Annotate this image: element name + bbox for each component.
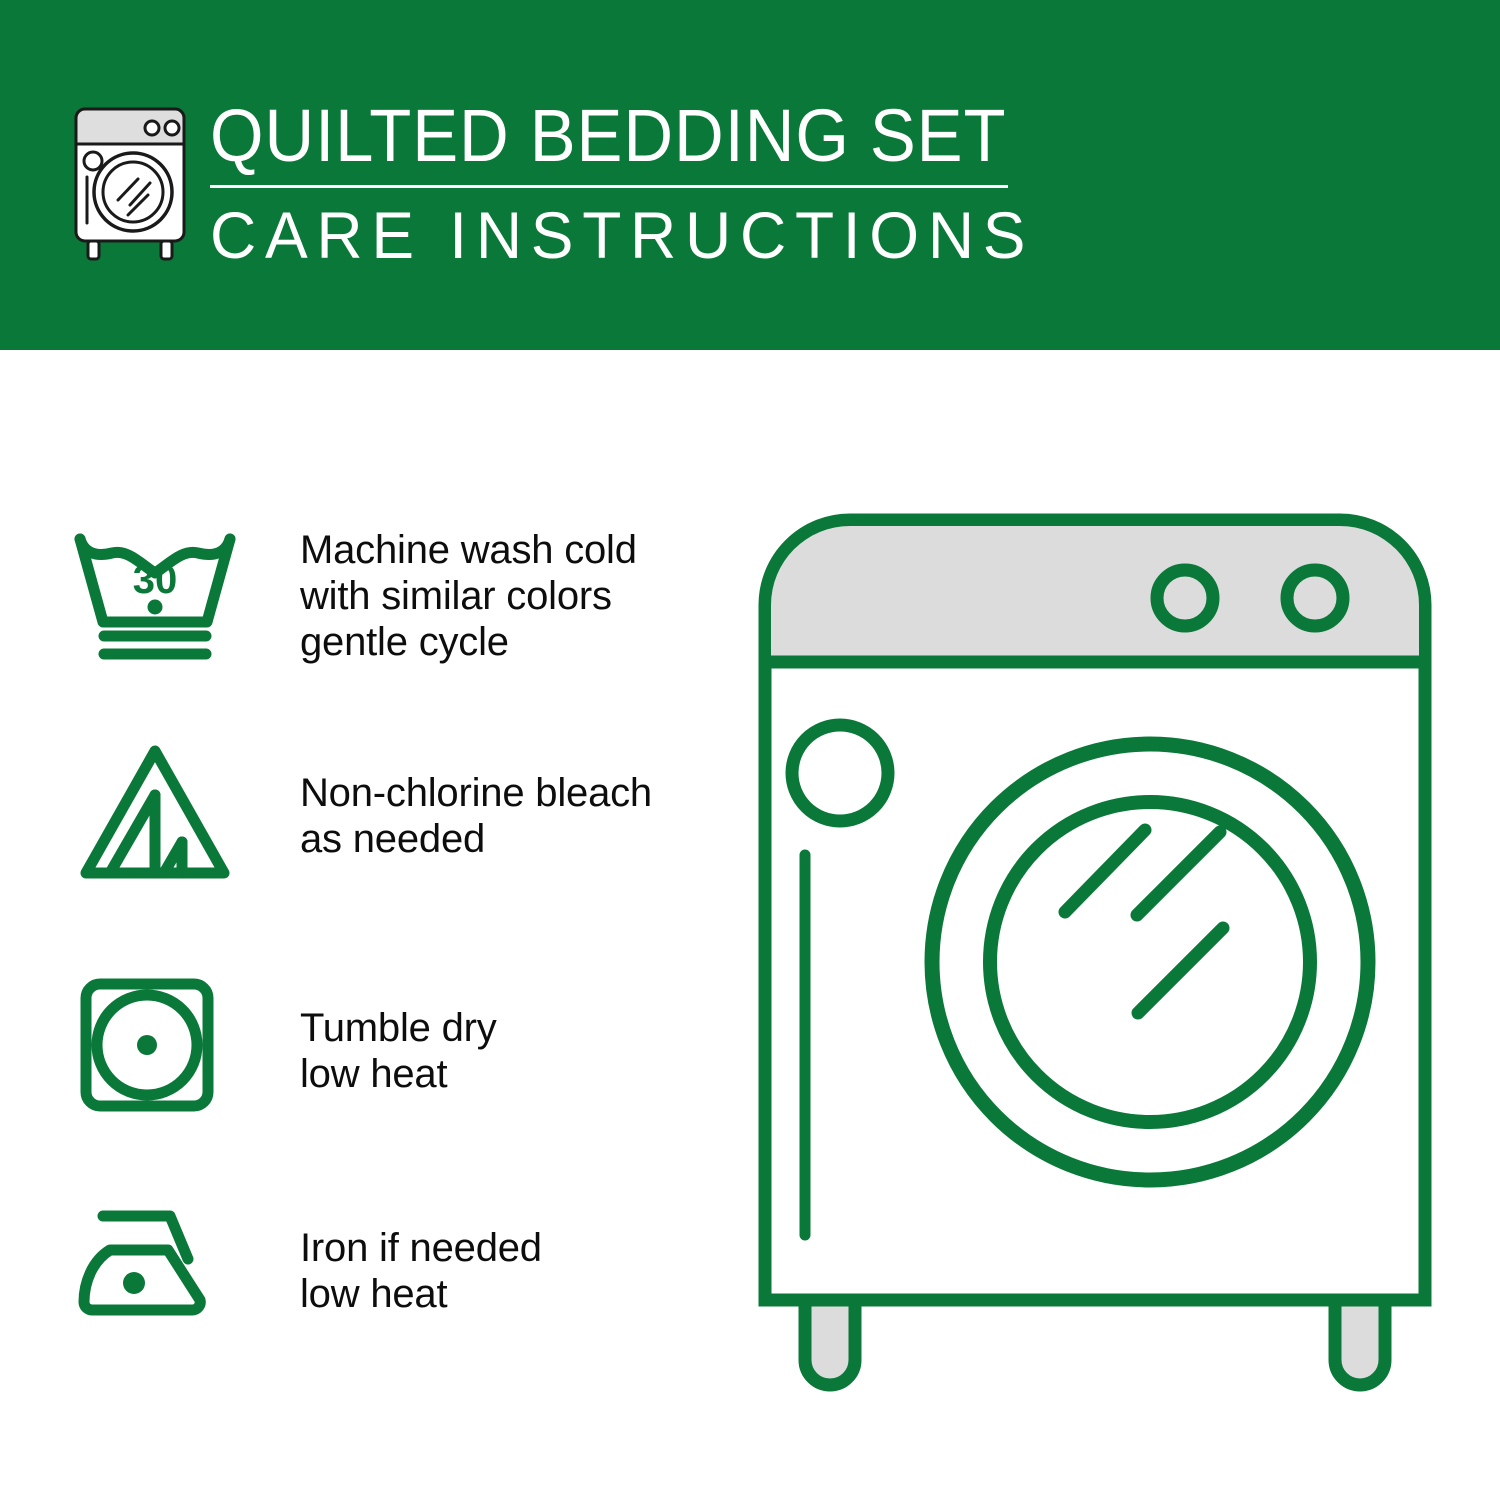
- care-text-line: low heat: [300, 1271, 730, 1317]
- care-instructions-page: QUILTED BEDDING SET CARE INSTRUCTIONS: [0, 0, 1500, 1500]
- header-banner: QUILTED BEDDING SET CARE INSTRUCTIONS: [0, 0, 1500, 350]
- care-instruction-list: 30 Machine wash cold with similar colors…: [70, 505, 730, 1365]
- tumble-dry-low-icon: [70, 960, 240, 1120]
- leg-right: [1335, 1300, 1385, 1385]
- wash-temperature-label: 30: [133, 558, 178, 602]
- care-item-tumble-dry-text: Tumble dry low heat: [240, 960, 730, 1097]
- care-item-wash-text: Machine wash cold with similar colors ge…: [240, 505, 730, 665]
- care-text-line: low heat: [300, 1051, 730, 1097]
- care-text-line: Machine wash cold: [300, 527, 730, 573]
- care-item-iron: Iron if needed low heat: [70, 1185, 730, 1365]
- title-divider: [210, 185, 1008, 188]
- care-item-iron-text: Iron if needed low heat: [240, 1185, 730, 1317]
- iron-low-heat-icon: [70, 1185, 240, 1333]
- header-title-group: QUILTED BEDDING SET CARE INSTRUCTIONS: [210, 95, 1066, 270]
- door-inner-ring: [990, 802, 1310, 1122]
- washing-machine-icon: [60, 95, 200, 265]
- care-item-bleach: Non-chlorine bleach as needed: [70, 725, 730, 960]
- care-text-line: with similar colors: [300, 573, 730, 619]
- care-item-wash: 30 Machine wash cold with similar colors…: [70, 505, 730, 725]
- header-content: QUILTED BEDDING SET CARE INSTRUCTIONS: [60, 95, 1066, 270]
- care-text-line: gentle cycle: [300, 619, 730, 665]
- indicator-button: [792, 725, 888, 821]
- leg-left: [805, 1300, 855, 1385]
- care-text-line: Tumble dry: [300, 1005, 730, 1051]
- page-title: QUILTED BEDDING SET: [210, 97, 1006, 175]
- knob-right: [1287, 570, 1343, 626]
- wash-tub-30-gentle-icon: 30: [70, 505, 240, 663]
- non-chlorine-bleach-triangle-icon: [70, 725, 240, 887]
- care-text-line: Non-chlorine bleach: [300, 770, 730, 816]
- knob-left: [1157, 570, 1213, 626]
- care-item-tumble-dry: Tumble dry low heat: [70, 960, 730, 1185]
- care-text-line: as needed: [300, 816, 730, 862]
- page-subtitle: CARE INSTRUCTIONS: [210, 200, 1041, 270]
- washing-machine-illustration: [745, 500, 1445, 1420]
- care-text-line: Iron if needed: [300, 1225, 730, 1271]
- care-item-bleach-text: Non-chlorine bleach as needed: [240, 725, 730, 862]
